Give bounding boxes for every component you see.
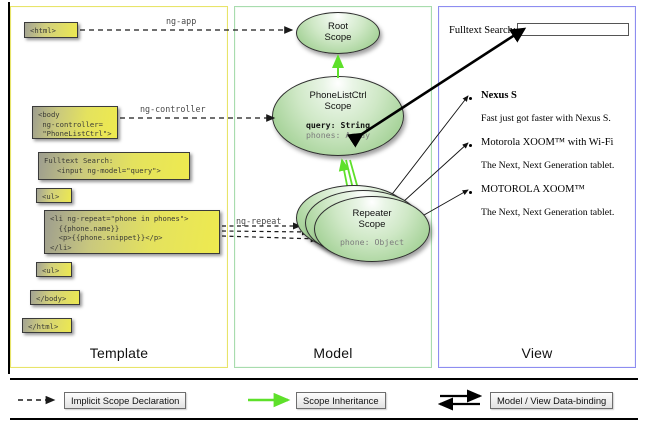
legend-bottom-divider — [10, 418, 638, 420]
edge-label-ng-app: ng-app — [166, 16, 196, 26]
edge-label-ng-repeat: ng-repeat — [236, 216, 281, 226]
code-body-close: </body> — [30, 290, 80, 305]
legend-label-model-view-data-binding: Model / View Data-binding — [490, 392, 613, 409]
phonelistctrl-scope-prop-query: query: String — [273, 120, 403, 130]
view-phone-name-1: Motorola XOOM™ with Wi-Fi — [481, 137, 613, 148]
phonelistctrl-scope-title-line2: Scope — [273, 101, 403, 112]
code-ul-close: <ul> — [36, 262, 72, 277]
repeater-scope-prop-phone: phone: Object — [315, 237, 429, 247]
edge-label-ng-controller: ng-controller — [140, 104, 206, 114]
code-ul-open: <ul> — [36, 188, 72, 203]
view-bullet-0 — [469, 97, 472, 100]
root-scope-ellipse: Root Scope — [296, 12, 380, 54]
view-bullet-2 — [469, 191, 472, 194]
view-content: Fulltext Search: Nexus S Fast just got f… — [439, 7, 635, 367]
repeater-scope-title-line1: Repeater — [315, 208, 429, 219]
view-search-label: Fulltext Search: — [449, 25, 516, 36]
root-scope-title-line2: Scope — [297, 32, 379, 43]
root-scope-title-line1: Root — [297, 21, 379, 32]
code-body-open: <body ng-controller= "PhoneListCtrl"> — [32, 106, 118, 139]
view-phone-name-0: Nexus S — [481, 90, 517, 101]
view-panel: Fulltext Search: Nexus S Fast just got f… — [438, 6, 636, 368]
legend-top-divider — [10, 378, 638, 380]
repeater-scope-title-line2: Scope — [315, 219, 429, 230]
code-li-ng-repeat: <li ng-repeat="phone in phones"> {{phone… — [44, 210, 220, 254]
diagram-root: Template <html> <body ng-controller= "Ph… — [0, 0, 645, 425]
code-fulltext-search: Fulltext Search: <input ng-model="query"… — [38, 152, 190, 180]
view-phone-name-2: MOTOROLA XOOM™ — [481, 184, 585, 195]
code-html-close: </html> — [22, 318, 72, 333]
view-panel-label: View — [439, 345, 635, 361]
repeater-scope-ellipse: Repeater Scope phone: Object — [314, 196, 430, 262]
legend-label-implicit-scope-declaration: Implicit Scope Declaration — [64, 392, 186, 409]
legend-label-scope-inheritance: Scope Inheritance — [296, 392, 386, 409]
template-panel: Template — [10, 6, 228, 368]
view-phone-snippet-2: The Next, Next Generation tablet. — [481, 207, 614, 218]
view-bullet-1 — [469, 144, 472, 147]
code-html-open: <html> — [24, 22, 78, 38]
model-panel-label: Model — [235, 345, 431, 361]
phonelistctrl-scope-prop-phones: phones: Array — [273, 130, 403, 140]
template-panel-label: Template — [11, 345, 227, 361]
view-search-input[interactable] — [517, 23, 629, 36]
phonelistctrl-scope-ellipse: PhoneListCtrl Scope query: String phones… — [272, 76, 404, 156]
view-phone-snippet-0: Fast just got faster with Nexus S. — [481, 113, 611, 124]
phonelistctrl-scope-title-line1: PhoneListCtrl — [273, 90, 403, 101]
view-phone-snippet-1: The Next, Next Generation tablet. — [481, 160, 614, 171]
